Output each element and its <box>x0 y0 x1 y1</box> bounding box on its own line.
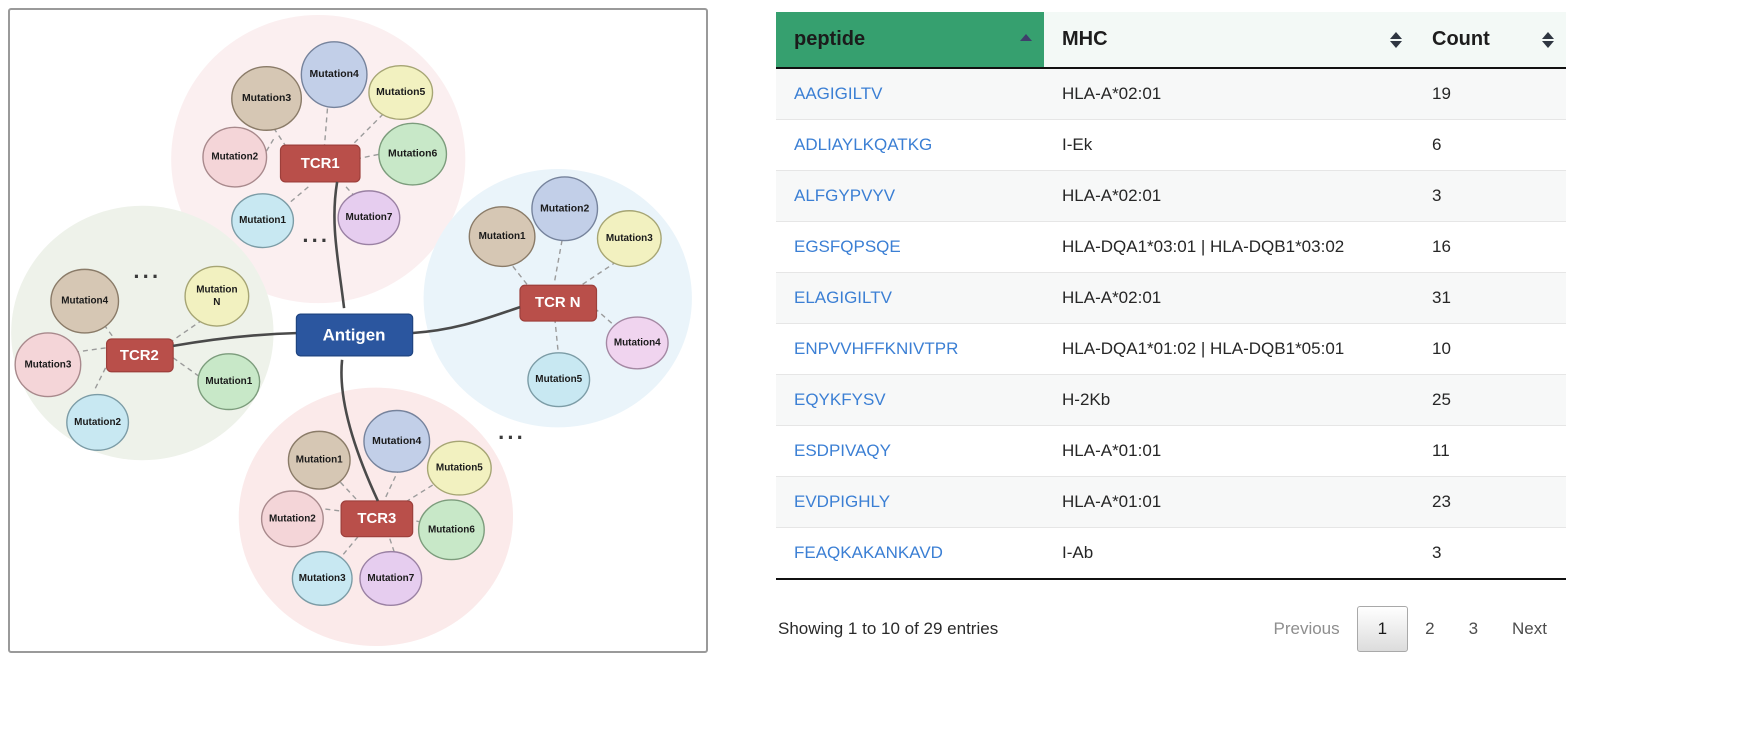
mutation-label: Mutation6 <box>388 149 437 160</box>
cell-count: 3 <box>1414 171 1566 222</box>
peptide-table: peptide MHC Count <box>776 12 1566 580</box>
cell-mhc: HLA-A*02:01 <box>1044 273 1414 324</box>
mutation-label: Mutation2 <box>211 152 258 163</box>
ellipsis-marker: ··· <box>133 264 161 289</box>
cell-mhc: HLA-DQA1*01:02 | HLA-DQB1*05:01 <box>1044 324 1414 375</box>
sort-both-icon[interactable] <box>1542 31 1554 49</box>
mutation-label: Mutation4 <box>61 296 108 307</box>
mutation-label: Mutation3 <box>25 359 72 370</box>
peptide-link[interactable]: ESDPIVAQY <box>794 441 891 460</box>
mutation-label: Mutation4 <box>372 436 421 447</box>
pagination-page-1[interactable]: 1 <box>1357 606 1408 652</box>
cell-peptide[interactable]: AAGIGILTV <box>776 68 1044 120</box>
cell-peptide[interactable]: EQYKFYSV <box>776 375 1044 426</box>
table-row[interactable]: ESDPIVAQY HLA-A*01:01 11 <box>776 426 1566 477</box>
cell-mhc: I-Ab <box>1044 528 1414 580</box>
cell-mhc: HLA-A*01:01 <box>1044 426 1414 477</box>
table-row[interactable]: ELAGIGILTV HLA-A*02:01 31 <box>776 273 1566 324</box>
diagram-canvas: Mutation1 Mutation2 Mutation3 Mutation4 … <box>10 10 706 651</box>
mutation-label: Mutation1 <box>205 376 252 387</box>
tcr-node-label: TCR1 <box>301 156 340 172</box>
mutation-label: Mutation2 <box>269 513 316 524</box>
table-row[interactable]: ENPVVHFFKNIVTPR HLA-DQA1*01:02 | HLA-DQB… <box>776 324 1566 375</box>
peptide-link[interactable]: ELAGIGILTV <box>794 288 892 307</box>
peptide-link[interactable]: EVDPIGHLY <box>794 492 890 511</box>
mutation-label: Mutation5 <box>376 87 425 98</box>
cell-count: 16 <box>1414 222 1566 273</box>
sort-asc-icon[interactable] <box>1020 31 1032 49</box>
table-header-row: peptide MHC Count <box>776 12 1566 68</box>
mutation-label: Mutation4 <box>614 337 661 348</box>
column-header-peptide-label: peptide <box>794 28 865 50</box>
pagination: Previous 1 2 3 Next <box>1256 606 1564 652</box>
cell-peptide[interactable]: EGSFQPSQE <box>776 222 1044 273</box>
cell-count: 23 <box>1414 477 1566 528</box>
peptide-link[interactable]: ENPVVHFFKNIVTPR <box>794 339 958 358</box>
table-head: peptide MHC Count <box>776 12 1566 68</box>
mutation-label: Mutation1 <box>239 215 286 226</box>
cell-peptide[interactable]: EVDPIGHLY <box>776 477 1044 528</box>
column-header-peptide[interactable]: peptide <box>776 12 1044 68</box>
pagination-page-3[interactable]: 3 <box>1452 608 1495 650</box>
ellipsis-marker: ··· <box>498 425 526 450</box>
mutation-label: Mutation4 <box>310 69 359 80</box>
tcr-node-label: TCR2 <box>120 348 159 364</box>
peptide-link[interactable]: EQYKFYSV <box>794 390 886 409</box>
showing-entries-info: Showing 1 to 10 of 29 entries <box>778 619 998 639</box>
peptide-link[interactable]: AAGIGILTV <box>794 84 883 103</box>
table-body: AAGIGILTV HLA-A*02:01 19 ADLIAYLKQATKG I… <box>776 68 1566 579</box>
mutation-label: Mutation5 <box>535 374 582 385</box>
mutation-label: Mutation3 <box>242 93 291 104</box>
mutation-label: Mutation3 <box>606 233 653 244</box>
cell-count: 3 <box>1414 528 1566 580</box>
cell-count: 10 <box>1414 324 1566 375</box>
table-row[interactable]: EQYKFYSV H-2Kb 25 <box>776 375 1566 426</box>
cell-mhc: HLA-DQA1*03:01 | HLA-DQB1*03:02 <box>1044 222 1414 273</box>
ellipsis-marker: ··· <box>302 228 330 253</box>
column-header-mhc[interactable]: MHC <box>1044 12 1414 68</box>
peptide-link[interactable]: ADLIAYLKQATKG <box>794 135 932 154</box>
column-header-count[interactable]: Count <box>1414 12 1566 68</box>
table-row[interactable]: ALFGYPVYV HLA-A*02:01 3 <box>776 171 1566 222</box>
tcr-node-label: TCR3 <box>357 511 396 527</box>
cell-count: 31 <box>1414 273 1566 324</box>
peptide-table-panel: peptide MHC Count <box>776 12 1726 652</box>
mutation-label: Mutation3 <box>299 573 346 584</box>
screenshot-root: Mutation1 Mutation2 Mutation3 Mutation4 … <box>0 0 1738 748</box>
cell-peptide[interactable]: ENPVVHFFKNIVTPR <box>776 324 1044 375</box>
cell-count: 11 <box>1414 426 1566 477</box>
mutation-label: Mutation5 <box>436 463 483 474</box>
tcr-antigen-network-diagram: Mutation1 Mutation2 Mutation3 Mutation4 … <box>8 8 708 653</box>
cell-mhc: I-Ek <box>1044 120 1414 171</box>
table-row[interactable]: EGSFQPSQE HLA-DQA1*03:01 | HLA-DQB1*03:0… <box>776 222 1566 273</box>
mutation-label: Mutation6 <box>428 524 475 535</box>
pagination-page-2[interactable]: 2 <box>1408 608 1451 650</box>
column-header-count-label: Count <box>1432 28 1490 50</box>
peptide-link[interactable]: EGSFQPSQE <box>794 237 901 256</box>
cell-mhc: HLA-A*01:01 <box>1044 477 1414 528</box>
table-row[interactable]: AAGIGILTV HLA-A*02:01 19 <box>776 68 1566 120</box>
mutation-label: Mutation7 <box>346 212 393 223</box>
mutation-label: Mutation7 <box>367 573 414 584</box>
antigen-node-label: Antigen <box>323 325 386 344</box>
mutation-label: Mutation2 <box>74 417 121 428</box>
table-row[interactable]: EVDPIGHLY HLA-A*01:01 23 <box>776 477 1566 528</box>
cell-peptide[interactable]: ADLIAYLKQATKG <box>776 120 1044 171</box>
table-row[interactable]: FEAQKAKANKAVD I-Ab 3 <box>776 528 1566 580</box>
cell-mhc: HLA-A*02:01 <box>1044 68 1414 120</box>
cell-mhc: HLA-A*02:01 <box>1044 171 1414 222</box>
cell-peptide[interactable]: ESDPIVAQY <box>776 426 1044 477</box>
cell-count: 25 <box>1414 375 1566 426</box>
column-header-mhc-label: MHC <box>1062 28 1108 50</box>
mutation-label: Mutation1 <box>296 455 343 466</box>
cell-peptide[interactable]: FEAQKAKANKAVD <box>776 528 1044 580</box>
cell-peptide[interactable]: ELAGIGILTV <box>776 273 1044 324</box>
peptide-link[interactable]: ALFGYPVYV <box>794 186 895 205</box>
table-footer: Showing 1 to 10 of 29 entries Previous 1… <box>776 606 1566 652</box>
tcr-node-label: TCR N <box>535 295 581 311</box>
sort-both-icon[interactable] <box>1390 31 1402 49</box>
mutation-label: Mutation1 <box>479 231 526 242</box>
mutation-label: Mutation2 <box>540 203 589 214</box>
cell-count: 6 <box>1414 120 1566 171</box>
cell-mhc: H-2Kb <box>1044 375 1414 426</box>
table-row[interactable]: ADLIAYLKQATKG I-Ek 6 <box>776 120 1566 171</box>
cell-peptide[interactable]: ALFGYPVYV <box>776 171 1044 222</box>
peptide-link[interactable]: FEAQKAKANKAVD <box>794 543 943 562</box>
pagination-next[interactable]: Next <box>1495 608 1564 650</box>
cell-count: 19 <box>1414 68 1566 120</box>
pagination-previous[interactable]: Previous <box>1256 608 1356 650</box>
